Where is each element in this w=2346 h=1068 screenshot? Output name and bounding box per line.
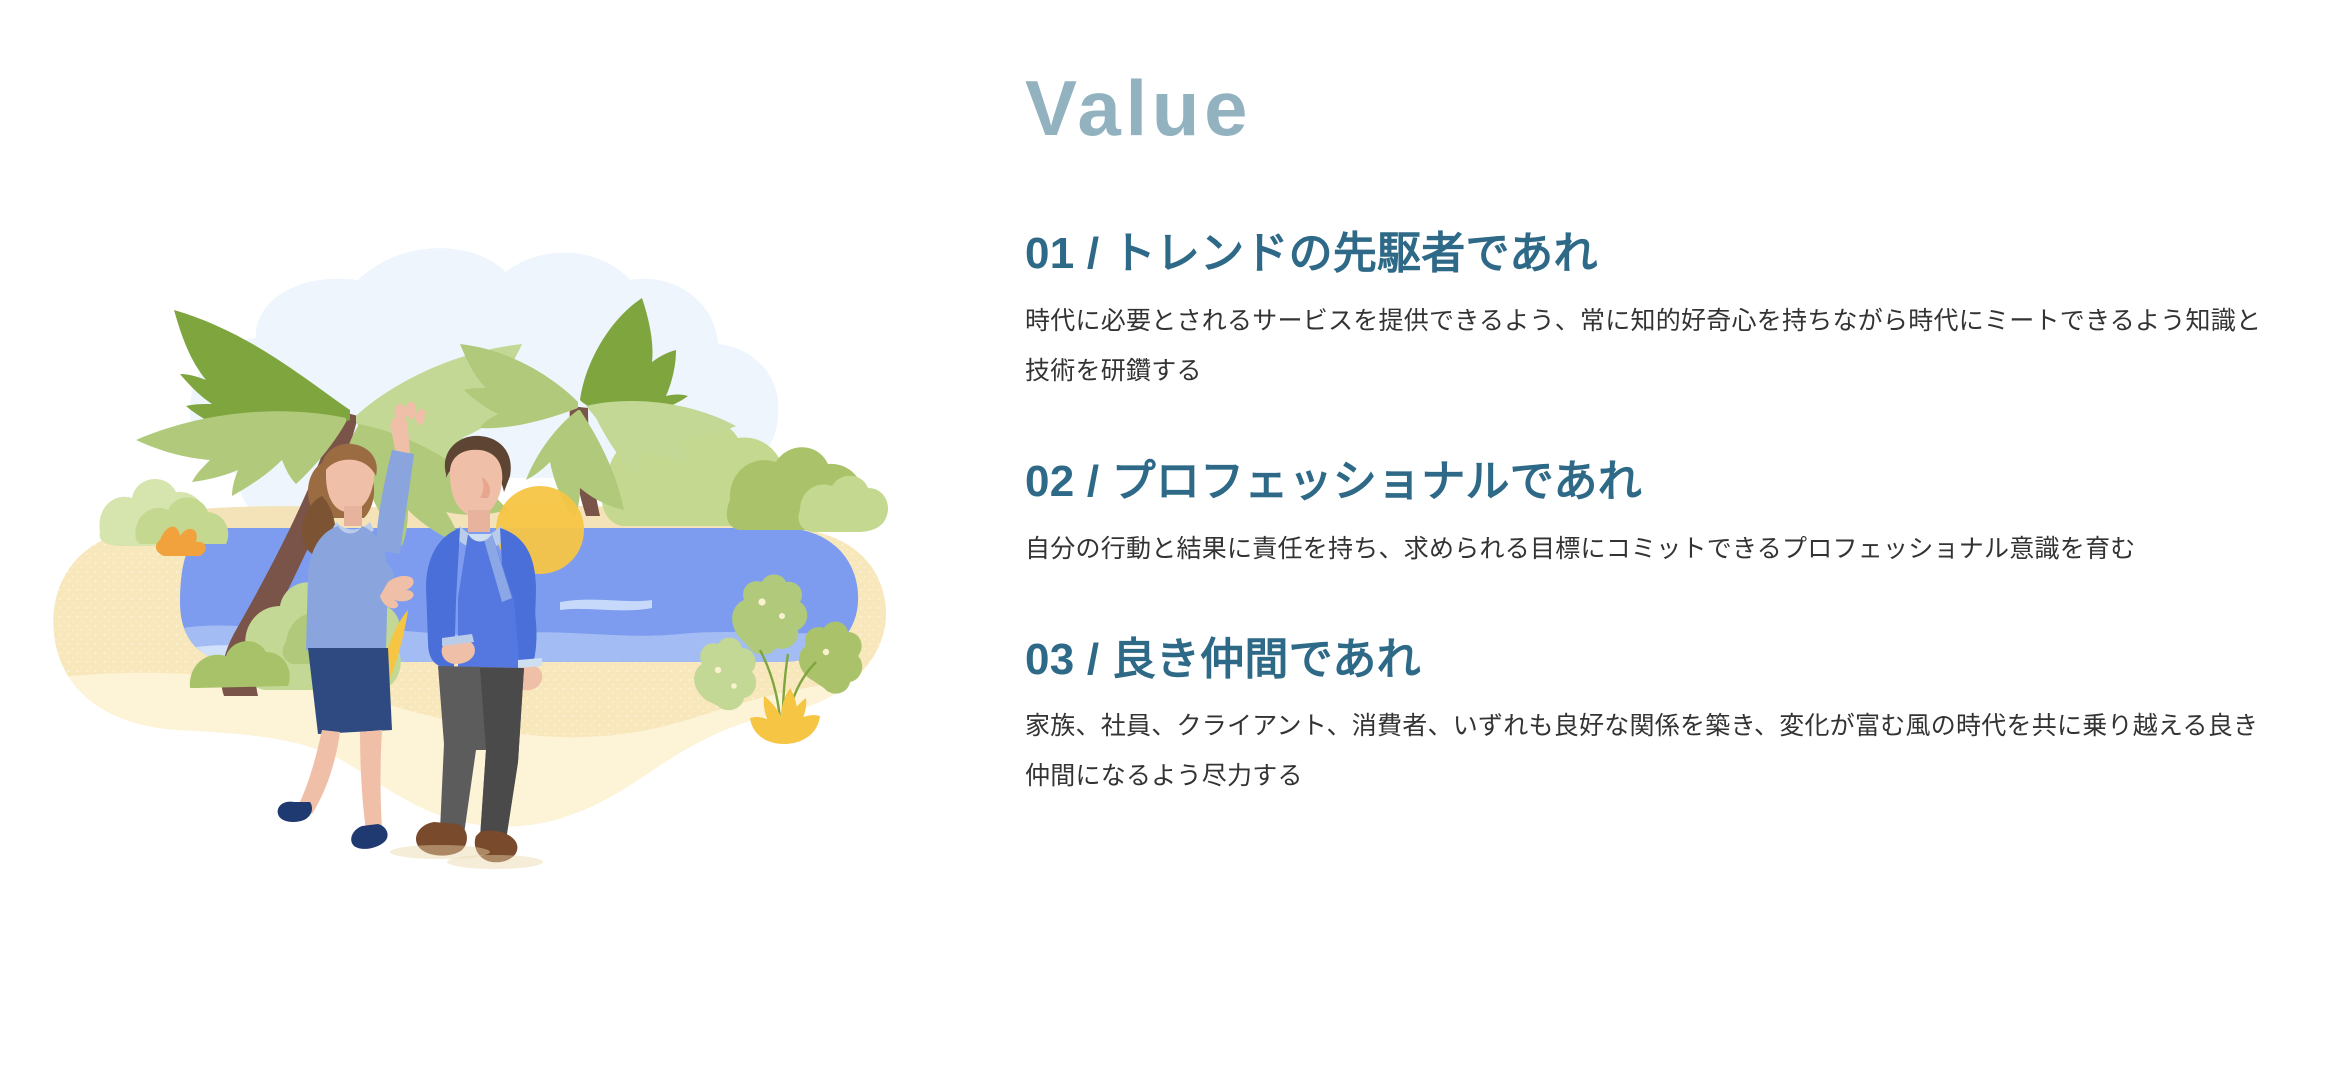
beach-couple-palm-trees-icon (40, 210, 940, 870)
value-heading-03: 03 / 良き仲間であれ (1025, 628, 2283, 692)
value-section: Value 01 / トレンドの先駆者であれ 時代に必要とされるサービスを提供で… (0, 0, 2346, 1068)
value-heading-02: 02 / プロフェッショナルであれ (1025, 450, 2283, 514)
ground-shadow (447, 855, 543, 869)
value-body-02: 自分の行動と結果に責任を持ち、求められる目標にコミットできるプロフェッショナル意… (1025, 524, 2283, 574)
value-item-02: 02 / プロフェッショナルであれ 自分の行動と結果に責任を持ち、求められる目標… (1025, 450, 2283, 574)
value-item-01: 01 / トレンドの先駆者であれ 時代に必要とされるサービスを提供できるよう、常… (1025, 222, 2283, 396)
page-title: Value (1025, 68, 1252, 150)
value-heading-01: 01 / トレンドの先駆者であれ (1025, 222, 2283, 286)
value-item-03: 03 / 良き仲間であれ 家族、社員、クライアント、消費者、いずれも良好な関係を… (1025, 628, 2283, 802)
value-list: 01 / トレンドの先駆者であれ 時代に必要とされるサービスを提供できるよう、常… (1025, 222, 2283, 801)
value-body-01: 時代に必要とされるサービスを提供できるよう、常に知的好奇心を持ちながら時代にミー… (1025, 296, 2283, 396)
content-column: Value 01 / トレンドの先駆者であれ 時代に必要とされるサービスを提供で… (1000, 0, 2346, 1068)
illustration-column (0, 0, 1000, 1068)
value-body-03: 家族、社員、クライアント、消費者、いずれも良好な関係を築き、変化が富む風の時代を… (1025, 701, 2283, 801)
